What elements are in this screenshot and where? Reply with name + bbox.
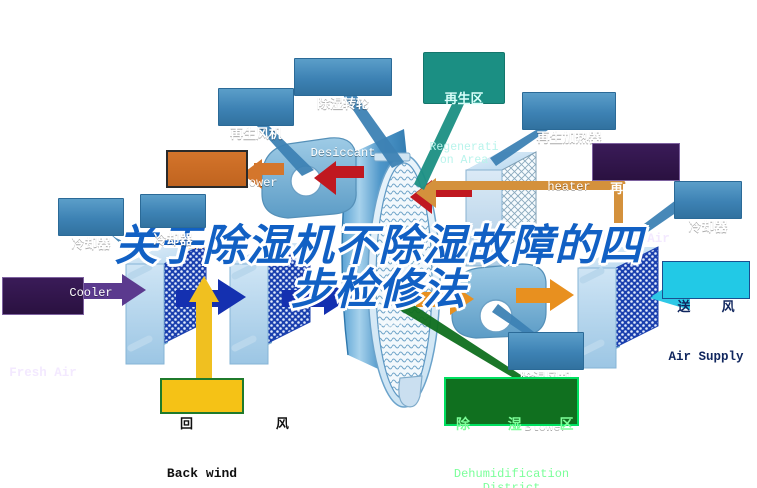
label-cooler-left: 冷却器 Cooler [58, 198, 124, 236]
diagram-canvas: xtvtv 除湿转轮 Desiccant 再生风机 Blower 再生区 Reg… [0, 0, 757, 488]
label-regeneration-fresh-air-inlet: 再生风进 Fresh Air [592, 143, 680, 181]
label-cooler-right: 冷却器 Cooler [674, 181, 742, 219]
label-dehum-district-en: Dehumidification District [446, 468, 577, 488]
label-dehum-district-cn: 除 湿 区 [446, 417, 577, 433]
label-regeneration-blower-cn: 再生风机 [219, 127, 293, 142]
label-regeneration-area-en: Regenerati on Area [424, 142, 504, 168]
label-back-wind-en: Back wind [162, 467, 242, 482]
label-cooler-back: 冷却器 [140, 194, 206, 228]
label-dehumidification-blower: 除湿风机 Blower [508, 332, 584, 370]
label-back-wind-cn: 回 风 [162, 417, 242, 432]
label-dehumidification-district: 除 湿 区 Dehumidification District [444, 377, 579, 426]
label-fresh-air-en: Fresh Air [3, 366, 83, 380]
label-regen-fresh-air-cn: 再生风进 [593, 182, 679, 197]
label-cooler-left-cn: 冷却器 [59, 237, 123, 252]
label-desiccant-wheel-en: Desiccant [295, 147, 391, 160]
label-regeneration-blower: 再生风机 Blower [218, 88, 294, 126]
label-back-wind: 回 风 Back wind [160, 378, 244, 414]
label-cooler-back-cn: 冷却器 [141, 233, 205, 248]
label-regeneration-heater: 再生加热器 heater [522, 92, 616, 130]
label-desiccant-wheel: 除湿转轮 Desiccant [294, 58, 392, 96]
label-cooler-left-en: Cooler [59, 287, 123, 300]
label-regeneration-area: 再生区 Regenerati on Area [423, 52, 505, 104]
label-desiccant-wheel-cn: 除湿转轮 [295, 97, 391, 112]
label-air-supply-en: Air Supply [663, 350, 749, 364]
label-regeneration-area-cn: 再生区 [424, 92, 504, 107]
label-exhaust: 再生风出 Exhaust [166, 150, 248, 188]
